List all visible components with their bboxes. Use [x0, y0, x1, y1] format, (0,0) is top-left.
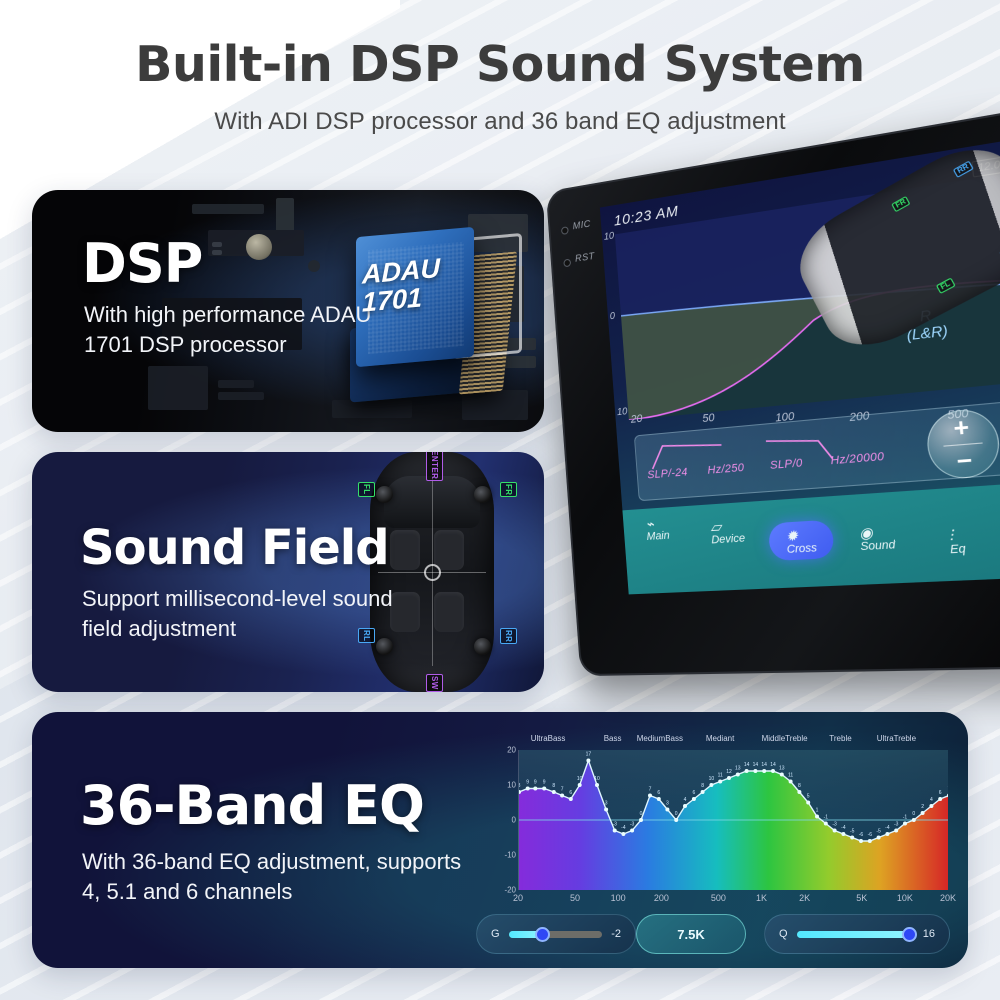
svg-text:0: 0 — [640, 811, 643, 817]
svg-text:13: 13 — [779, 766, 785, 772]
svg-text:-1: -1 — [824, 815, 829, 821]
svg-text:14: 14 — [753, 762, 759, 768]
svg-text:4: 4 — [930, 797, 933, 803]
eq-band-label: MiddleTreble — [762, 734, 808, 743]
svg-text:10: 10 — [594, 776, 600, 782]
svg-text:4: 4 — [684, 797, 687, 803]
eq-y-tick: 20 — [507, 746, 516, 755]
speaker-label-fl: FL — [358, 482, 375, 497]
svg-text:6: 6 — [693, 790, 696, 796]
eq-x-tick: 2K — [799, 893, 810, 903]
minus-button[interactable]: − — [955, 445, 973, 476]
svg-text:10: 10 — [709, 776, 715, 782]
eq-band-label: UltraBass — [531, 734, 566, 743]
page-header: Built-in DSP Sound System With ADI DSP p… — [0, 36, 1000, 136]
crossover-cell-slope-high[interactable]: SLP/0 — [770, 457, 804, 472]
svg-text:9: 9 — [534, 780, 537, 786]
eq-y-tick: -10 — [504, 851, 516, 860]
eq-feature-card: 36-Band EQ With 36-band EQ adjustment, s… — [32, 712, 968, 968]
q-slider-track[interactable] — [797, 931, 914, 938]
svg-text:14: 14 — [744, 762, 750, 768]
nav-item-sound[interactable]: ◉Sound — [836, 499, 918, 554]
svg-text:0: 0 — [912, 811, 915, 817]
car-head-unit: MIC RST 10:23 AM 12.0V 10 0 10 R (L&R) 2… — [546, 109, 1000, 676]
eq-y-tick: 10 — [507, 781, 516, 790]
dsp-feature-card: ADAU 1701 DSP With high performance ADAU… — [32, 190, 544, 432]
speaker-label-rr: RR — [500, 628, 517, 644]
svg-text:2: 2 — [921, 804, 924, 810]
nav-item-label: Cross — [786, 542, 817, 556]
eq-x-tick: 500 — [711, 893, 726, 903]
crossover-icon: ✹Cross — [768, 520, 835, 562]
svg-text:3: 3 — [666, 801, 669, 807]
car-icon: ⌁Main — [645, 515, 670, 543]
frequency-value: 7.5K — [677, 927, 704, 942]
svg-text:0: 0 — [675, 811, 678, 817]
nav-item-label: Main — [646, 530, 670, 543]
svg-text:17: 17 — [586, 752, 592, 758]
gain-slider-control[interactable]: G -2 — [476, 914, 636, 954]
speaker-label-sw: SW — [426, 674, 443, 692]
svg-text:6: 6 — [569, 790, 572, 796]
svg-text:10: 10 — [577, 776, 583, 782]
eq-x-tick: 5K — [856, 893, 867, 903]
svg-text:12: 12 — [726, 769, 732, 775]
svg-text:3: 3 — [605, 801, 608, 807]
svg-text:-4: -4 — [885, 825, 890, 831]
eq-x-tick: 10K — [897, 893, 913, 903]
svg-text:5: 5 — [807, 794, 810, 800]
q-slider-fill — [797, 931, 910, 938]
svg-text:7: 7 — [649, 787, 652, 793]
svg-text:8: 8 — [519, 783, 521, 789]
svg-text:-6: -6 — [868, 832, 873, 838]
graph-y-mid: 0 — [609, 311, 615, 322]
nav-item-cross[interactable]: ✹Cross — [762, 504, 841, 561]
svg-text:6: 6 — [657, 790, 660, 796]
eq-card-heading: 36-Band EQ — [80, 774, 424, 837]
svg-text:-1: -1 — [903, 815, 908, 821]
svg-text:-4: -4 — [841, 825, 846, 831]
svg-text:8: 8 — [798, 783, 801, 789]
dsp-card-body: With high performance ADAU 1701 DSP proc… — [84, 300, 384, 359]
svg-text:-3: -3 — [630, 822, 635, 828]
sound-target-icon: ◉Sound — [858, 523, 895, 553]
eq-band-label: Bass — [604, 734, 622, 743]
eq-x-tick: 50 — [570, 893, 580, 903]
svg-text:9: 9 — [526, 780, 529, 786]
crossover-cell-hz-low[interactable]: Hz/250 — [707, 462, 745, 477]
sound-field-card-heading: Sound Field — [80, 520, 389, 576]
nav-item-label: Device — [711, 532, 746, 546]
svg-text:9: 9 — [543, 780, 546, 786]
gain-slider-track[interactable] — [509, 931, 603, 938]
equalizer-icon: ⫶Eq — [948, 527, 966, 557]
svg-text:-3: -3 — [894, 822, 899, 828]
eq-x-tick: 200 — [654, 893, 669, 903]
eq-x-tick: 20 — [513, 893, 523, 903]
svg-text:-5: -5 — [876, 829, 881, 835]
eq-y-tick: 0 — [512, 816, 516, 825]
eq-band-label: Treble — [829, 734, 851, 743]
nav-item-label: Sound — [860, 539, 896, 554]
graph-x-tick: 20 — [630, 413, 642, 426]
frequency-display-pill[interactable]: 7.5K — [636, 914, 746, 954]
svg-text:11: 11 — [718, 773, 723, 779]
svg-text:13: 13 — [735, 766, 741, 772]
nav-item-label: Eq — [950, 543, 967, 557]
svg-text:6: 6 — [939, 790, 942, 796]
svg-text:-4: -4 — [621, 825, 626, 831]
device-icon: ▱Device — [710, 518, 746, 547]
eq-chart: UltraBassBassMediumBassMediantMiddleTreb… — [500, 730, 948, 915]
dsp-card-heading: DSP — [82, 232, 202, 295]
q-slider-knob[interactable] — [902, 927, 917, 942]
chip-marking: ADAU 1701 — [362, 250, 492, 316]
plus-button[interactable]: + — [952, 412, 970, 443]
svg-text:-5: -5 — [850, 829, 855, 835]
eq-band-label: Mediant — [706, 734, 734, 743]
nav-item-eq[interactable]: ⫶Eq — [913, 494, 1000, 558]
sound-field-card-body: Support millisecond-level sound field ad… — [82, 584, 402, 643]
head-unit-screen[interactable]: 10:23 AM 12.0V 10 0 10 R (L&R) 205010020… — [600, 136, 1000, 595]
svg-text:11: 11 — [788, 773, 793, 779]
eq-plot-area[interactable]: 89998761017103-3-4-307630468101112131414… — [518, 750, 948, 890]
eq-band-label-row: UltraBassBassMediumBassMediantMiddleTreb… — [500, 730, 948, 750]
crossover-cell-slope-low[interactable]: SLP/-24 — [647, 466, 688, 481]
speaker-label-fr: FR — [500, 482, 517, 497]
page-subtitle: With ADI DSP processor and 36 band EQ ad… — [0, 108, 1000, 136]
gain-value: -2 — [611, 928, 621, 940]
svg-text:14: 14 — [761, 762, 767, 768]
eq-card-body: With 36-band EQ adjustment, supports 4, … — [82, 847, 462, 906]
nav-item-main[interactable]: ⌁Main — [623, 514, 693, 544]
q-slider-control[interactable]: Q 16 — [764, 914, 950, 954]
svg-text:-3: -3 — [612, 822, 617, 828]
svg-text:8: 8 — [701, 783, 704, 789]
svg-text:1: 1 — [816, 808, 819, 814]
eq-x-tick: 100 — [611, 893, 626, 903]
q-value: 16 — [923, 928, 935, 940]
eq-curve-svg: 89998761017103-3-4-307630468101112131414… — [519, 750, 948, 890]
svg-text:-3: -3 — [832, 822, 837, 828]
svg-text:8: 8 — [552, 783, 555, 789]
gain-label: G — [491, 928, 500, 940]
svg-text:-6: -6 — [859, 832, 864, 838]
graph-y-bottom: 10 — [617, 406, 628, 418]
svg-text:14: 14 — [770, 762, 776, 768]
eq-x-tick: 1K — [756, 893, 767, 903]
q-label: Q — [779, 928, 788, 940]
svg-text:7: 7 — [561, 787, 564, 793]
nav-item-device[interactable]: ▱Device — [691, 509, 765, 547]
page-title: Built-in DSP Sound System — [0, 36, 1000, 93]
graph-x-tick: 50 — [702, 412, 715, 425]
graph-y-top: 10 — [604, 231, 615, 243]
gain-slider-knob[interactable] — [535, 927, 550, 942]
sound-field-feature-card: CENTER FL FR RL RR SW Sound Field Suppor… — [32, 452, 544, 692]
eq-band-label: MediumBass — [637, 734, 683, 743]
eq-band-label: UltraTreble — [877, 734, 916, 743]
eq-x-tick: 20K — [940, 893, 956, 903]
speaker-label-center: CENTER — [426, 452, 443, 481]
